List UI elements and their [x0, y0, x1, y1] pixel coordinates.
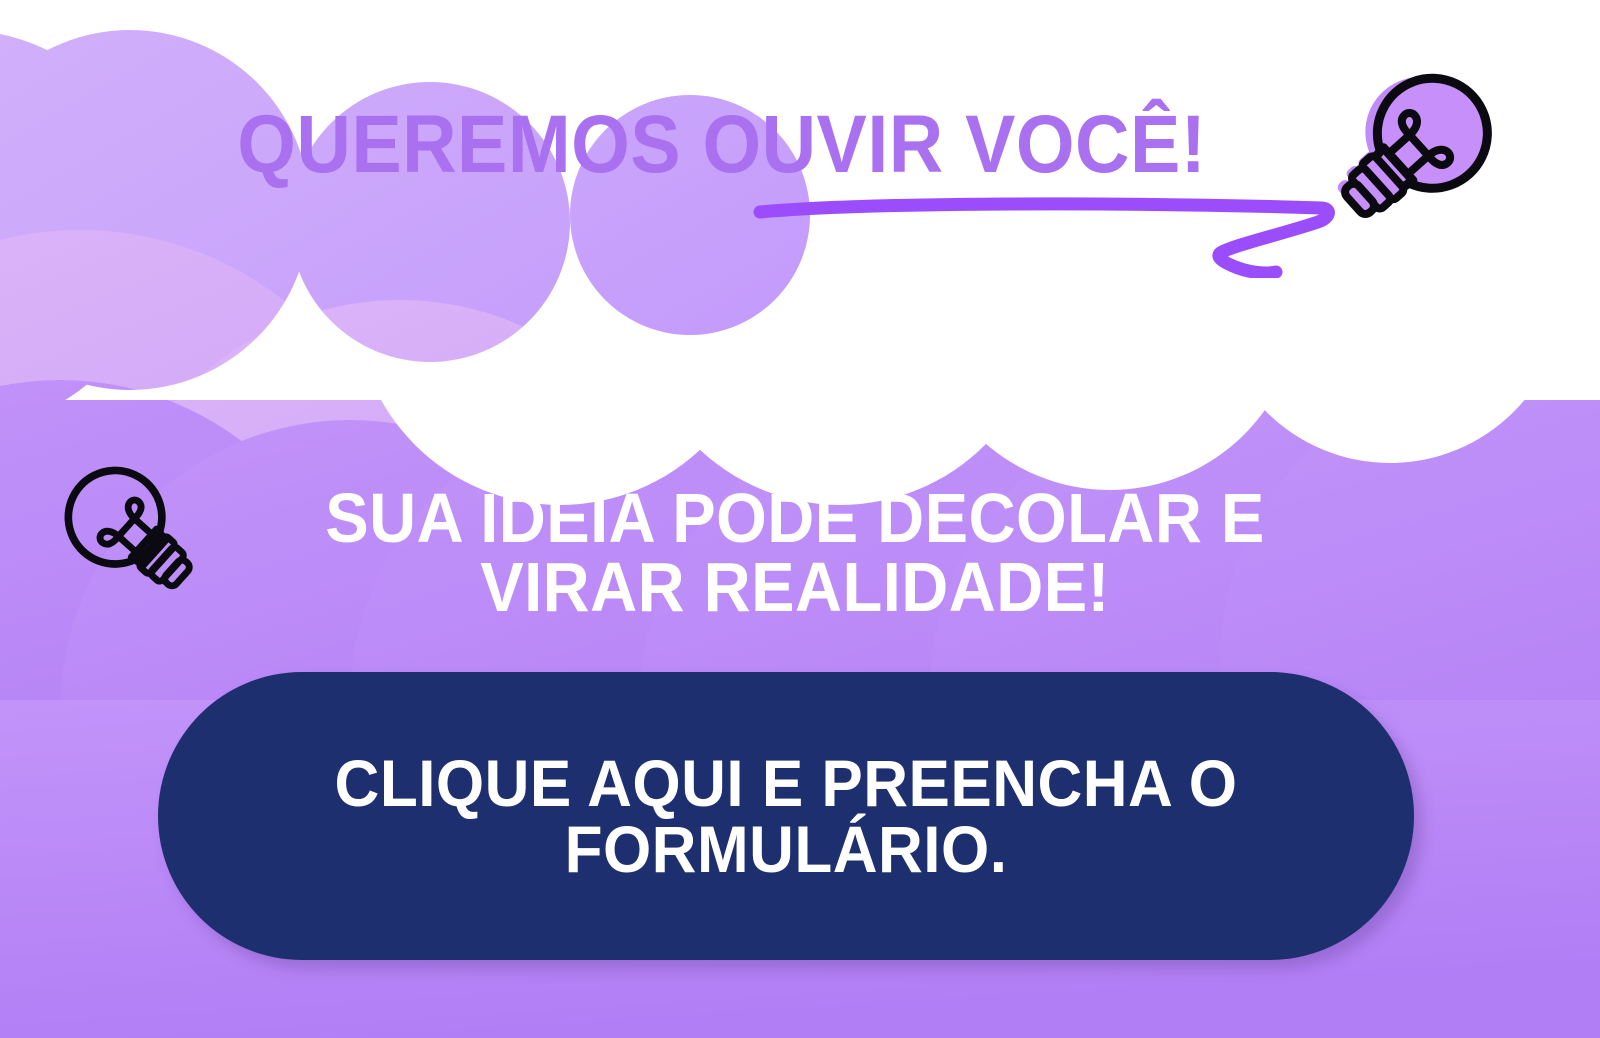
subheadline: SUA IDEIA PODE DECOLAR E VIRAR REALIDADE… — [288, 484, 1302, 621]
swoosh-underline-icon — [752, 188, 1352, 278]
cta-container: CLIQUE AQUI E PREENCHA O FORMULÁRIO. — [158, 672, 1414, 960]
cta-button-label: CLIQUE AQUI E PREENCHA O FORMULÁRIO. — [252, 750, 1320, 882]
subheadline-line-2: VIRAR REALIDADE! — [288, 553, 1302, 622]
subheadline-line-1: SUA IDEIA PODE DECOLAR E — [288, 484, 1302, 553]
cta-form-button[interactable]: CLIQUE AQUI E PREENCHA O FORMULÁRIO. — [158, 672, 1414, 960]
lightbulb-icon-left — [44, 444, 214, 624]
headline-text: QUEREMOS OUVIR VOCÊ! — [64, 104, 1536, 186]
promo-banner: QUEREMOS OUVIR VOCÊ! SU — [0, 0, 1600, 1038]
